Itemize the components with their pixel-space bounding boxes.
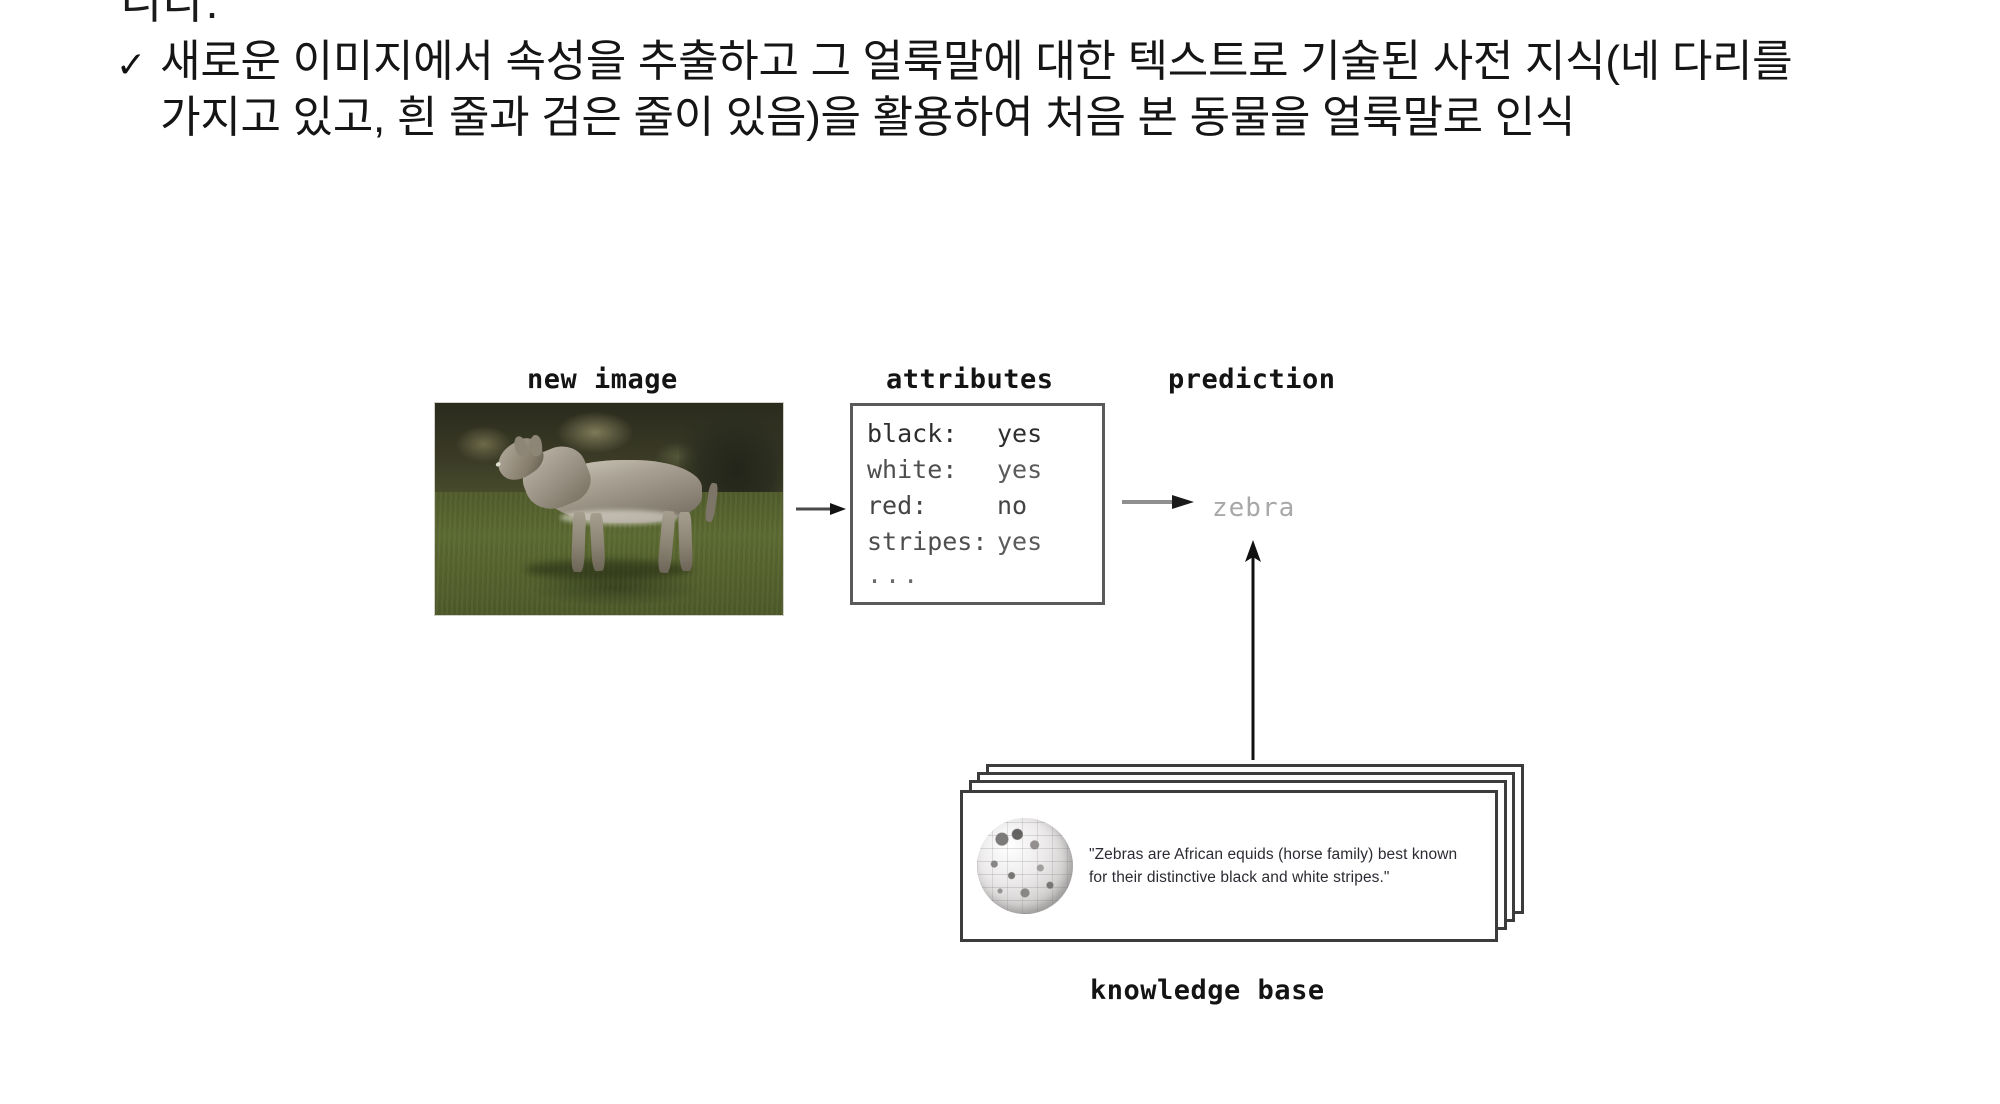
- attribute-value: yes: [997, 452, 1042, 488]
- attributes-ellipsis: ...: [867, 560, 1102, 590]
- photo-animal: [494, 441, 731, 572]
- attribute-key: red:: [867, 488, 997, 524]
- animal-tail: [704, 483, 719, 523]
- attribute-key: black:: [867, 416, 997, 452]
- animal-leg-front-left: [571, 512, 586, 573]
- caption-knowledge-base: knowledge base: [1090, 975, 1325, 1006]
- knowledge-base-quote: "Zebras are African equids (horse family…: [1089, 843, 1469, 890]
- caption-attributes: attributes: [886, 364, 1054, 395]
- attribute-value: yes: [997, 524, 1042, 560]
- animal-leg-back-right: [678, 512, 693, 572]
- attribute-row: white: yes: [867, 452, 1102, 488]
- attribute-key: stripes:: [867, 524, 997, 560]
- attribute-value: yes: [997, 416, 1042, 452]
- attribute-row: black: yes: [867, 416, 1102, 452]
- attribute-row: stripes: yes: [867, 524, 1102, 560]
- knowledge-base-stack: "Zebras are African equids (horse family…: [960, 764, 1530, 954]
- knowledge-base-card-front: "Zebras are African equids (horse family…: [960, 790, 1498, 942]
- arrow-knowledge-base-to-prediction: [1240, 540, 1266, 760]
- new-image-photo: [435, 403, 783, 615]
- attribute-value: no: [997, 488, 1027, 524]
- caption-new-image: new image: [527, 364, 678, 395]
- zero-shot-diagram: new image attributes prediction knowledg…: [0, 0, 2000, 1104]
- attributes-box: black: yes white: yes red: no stripes: y…: [850, 403, 1105, 605]
- caption-prediction: prediction: [1168, 364, 1336, 395]
- arrow-attributes-to-prediction: [1122, 494, 1194, 510]
- attribute-row: red: no: [867, 488, 1102, 524]
- animal-muzzle: [495, 462, 501, 468]
- prediction-value: zebra: [1212, 493, 1295, 523]
- animal-ear-right: [529, 434, 542, 456]
- attribute-key: white:: [867, 452, 997, 488]
- wikipedia-globe-icon: [977, 818, 1073, 914]
- arrow-image-to-attributes: [796, 502, 846, 516]
